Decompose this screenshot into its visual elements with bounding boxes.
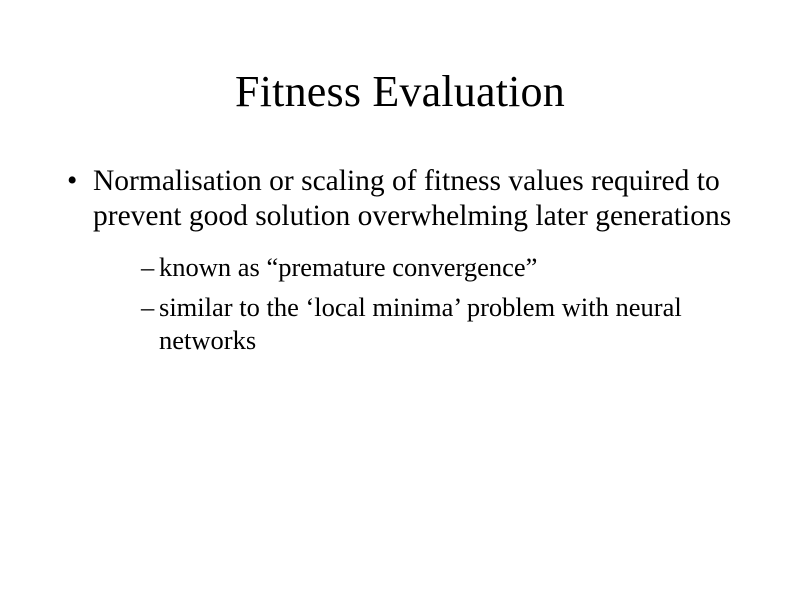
bullet-list-level1: • Normalisation or scaling of fitness va… — [62, 164, 752, 357]
bullet-dash-icon: – — [141, 291, 154, 324]
bullet-text: Normalisation or scaling of fitness valu… — [93, 164, 752, 234]
list-item: • Normalisation or scaling of fitness va… — [62, 164, 752, 357]
sub-bullet-text: known as “premature convergence” — [159, 251, 752, 284]
list-item: – known as “premature convergence” — [141, 251, 752, 284]
bullet-dot-icon: • — [67, 164, 77, 199]
slide-body: • Normalisation or scaling of fitness va… — [62, 164, 752, 357]
bullet-dash-icon: – — [141, 251, 154, 284]
sub-bullet-text: similar to the ‘local minima’ problem wi… — [159, 291, 752, 357]
bullet-list-level2: – known as “premature convergence” – sim… — [93, 251, 752, 357]
list-item: – similar to the ‘local minima’ problem … — [141, 291, 752, 357]
page-title: Fitness Evaluation — [0, 66, 800, 118]
slide-canvas: Fitness Evaluation • Normalisation or sc… — [0, 0, 800, 600]
